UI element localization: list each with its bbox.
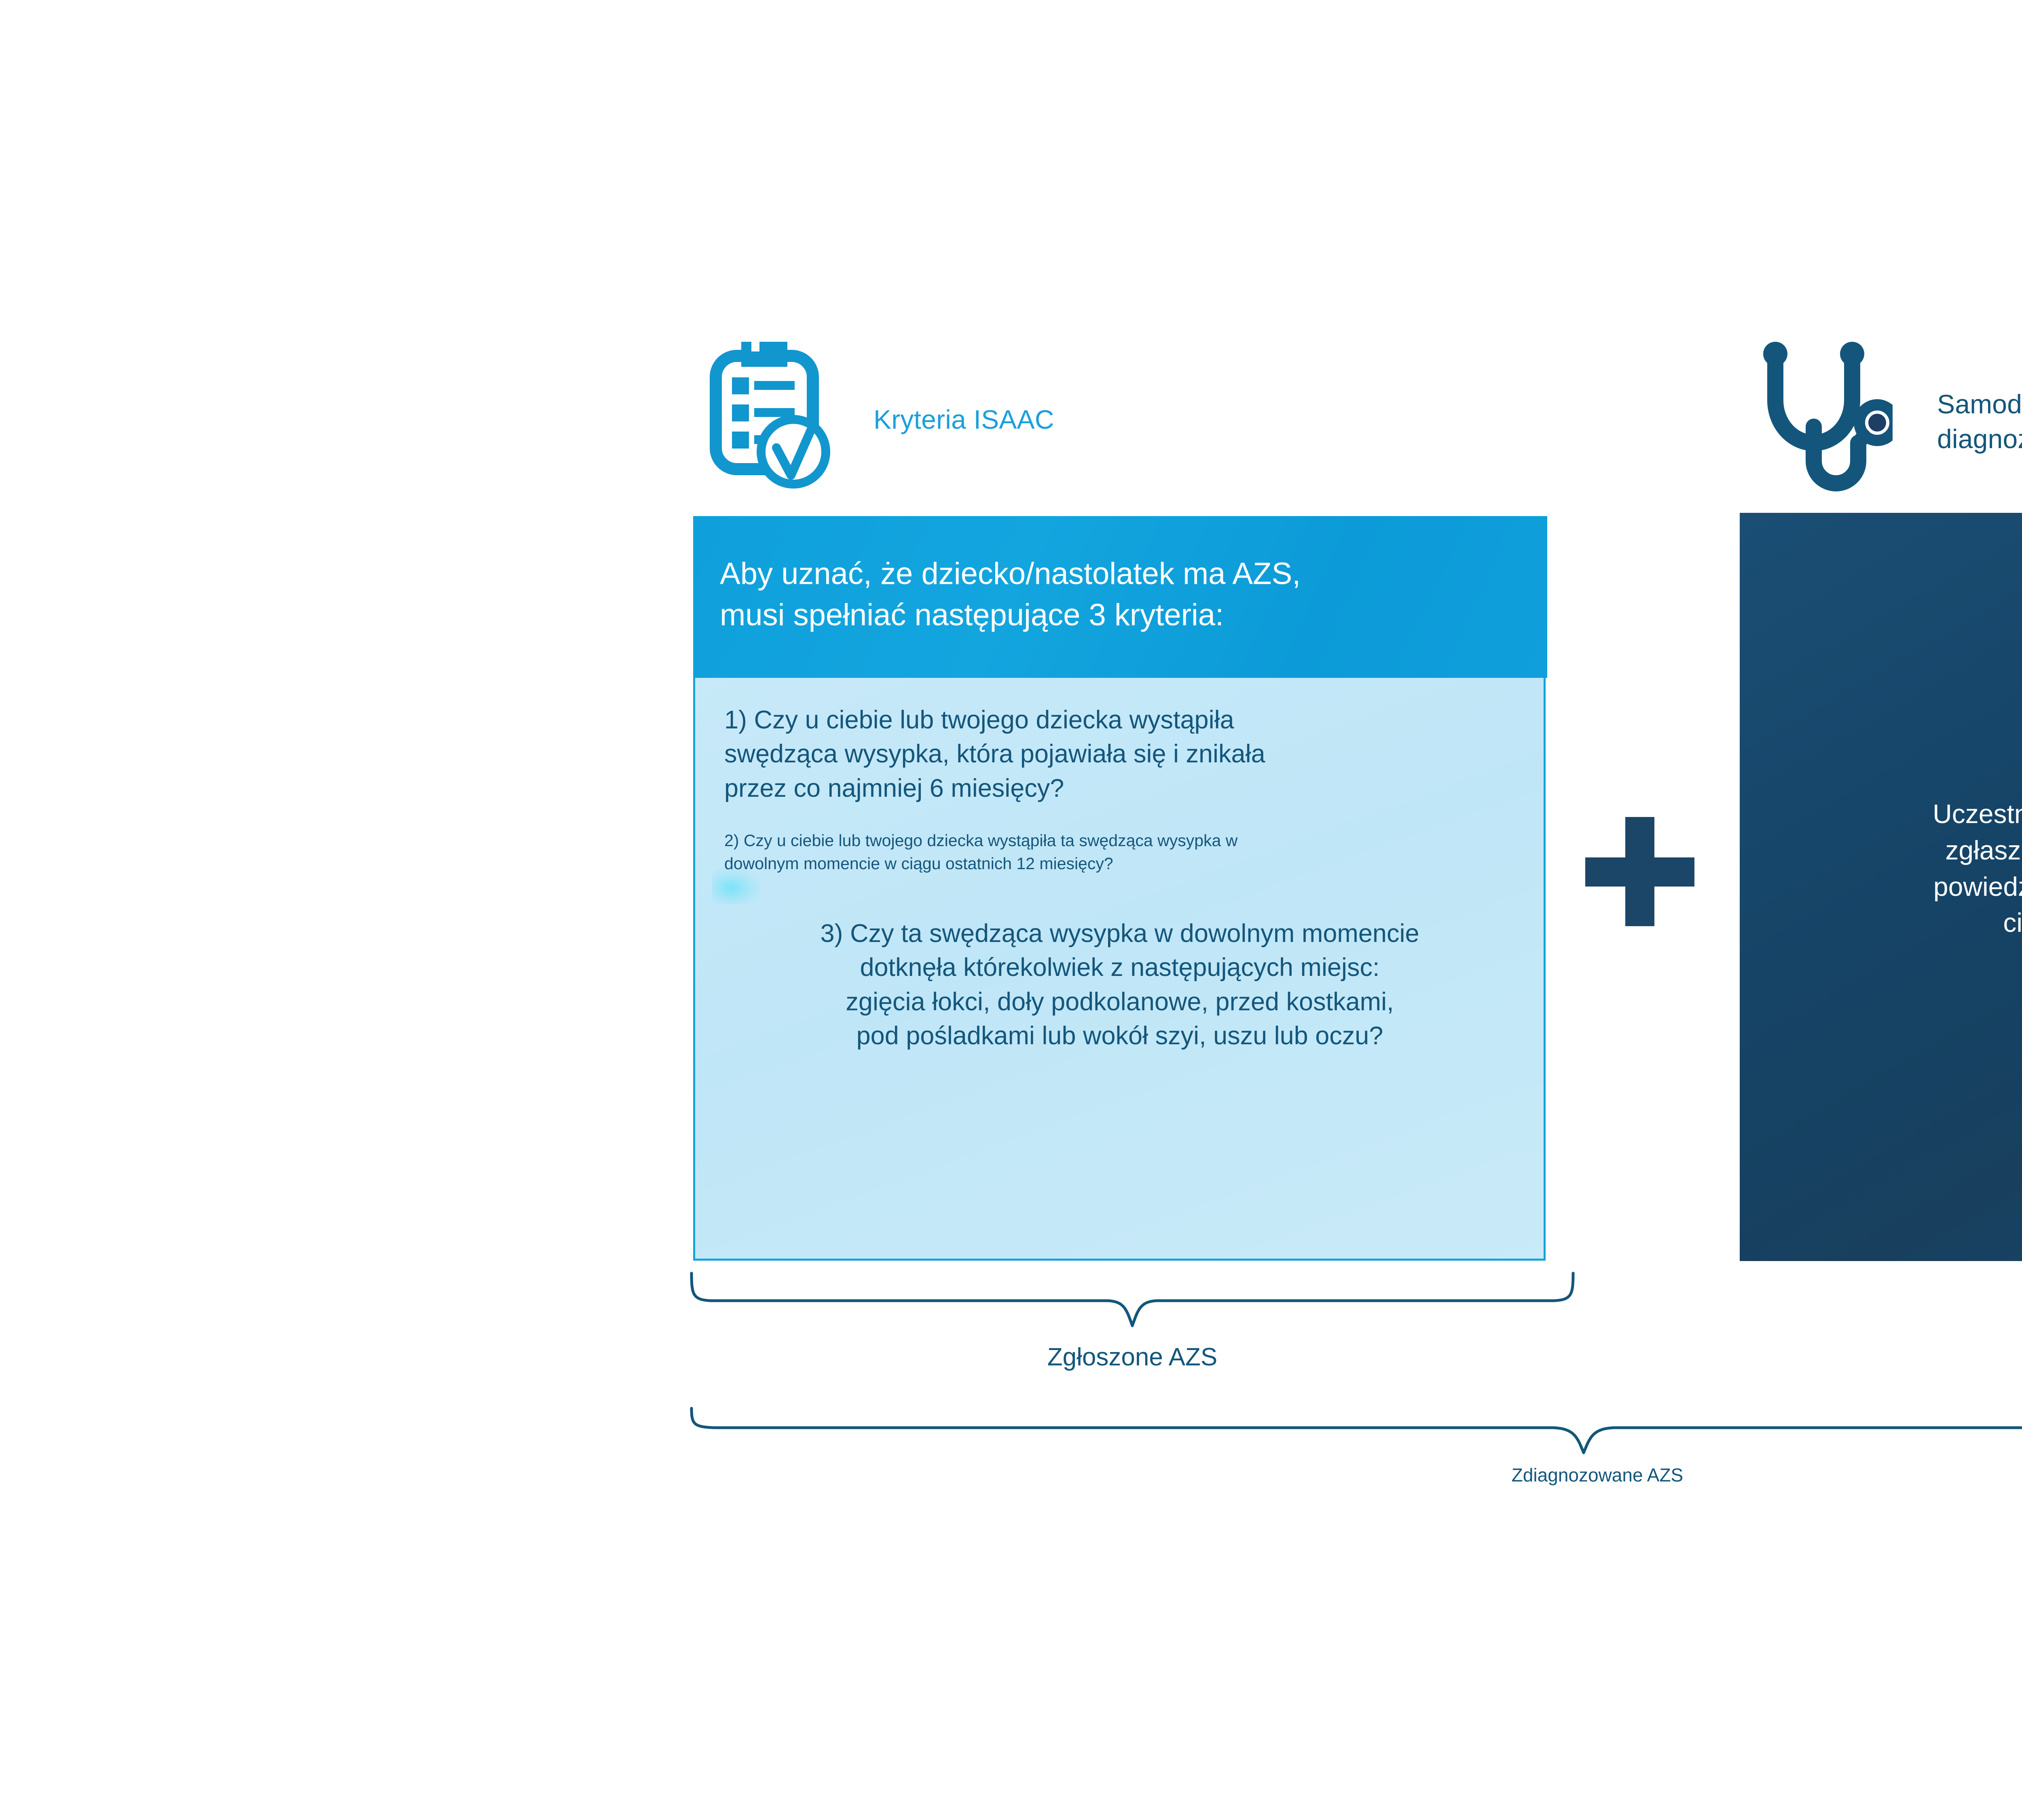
diagram-canvas: Kryteria ISAAC Aby uznać, że dziecko/nas… [0,0,2022,1820]
left-icon-caption-row: Kryteria ISAAC [704,342,1054,497]
diagnosed-azs-label: Zdiagnozowane AZS [687,1464,2022,1486]
right-icon-caption-row: Samodzielne zgłaszanie diagnozy lekarski… [1759,340,2022,504]
clipboard-check-icon [704,342,837,497]
plus-sign-icon [1585,817,1694,926]
self-reported-diagnosis-text: Uczestnicy będą samodzielnie zgłaszać, c… [1776,796,2022,941]
right-icon-label: Samodzielne zgłaszanie diagnozy lekarski… [1937,387,2022,457]
criterion-2: 2) Czy u ciebie lub twojego dziecka wyst… [724,829,1505,876]
criterion-3: 3) Czy ta swędząca wysypka w dowolnym mo… [719,916,1520,1053]
left-icon-label: Kryteria ISAAC [874,402,1054,437]
plus-vertical-bar [1625,817,1654,926]
isaac-criteria-card: Aby uznać, że dziecko/nastolatek ma AZS,… [693,516,1547,1262]
isaac-card-body: 1) Czy u ciebie lub twojego dziecka wyst… [693,678,1546,1261]
reported-azs-label: Zgłoszone AZS [687,1343,1577,1371]
self-reported-diagnosis-card: Uczestnicy będą samodzielnie zgłaszać, c… [1740,513,2022,1261]
criterion-1: 1) Czy u ciebie lub twojego dziecka wyst… [724,703,1517,805]
stethoscope-icon [1759,340,1893,504]
isaac-card-header-text: Aby uznać, że dziecko/nastolatek ma AZS,… [720,553,1512,636]
isaac-card-header: Aby uznać, że dziecko/nastolatek ma AZS,… [693,516,1547,678]
